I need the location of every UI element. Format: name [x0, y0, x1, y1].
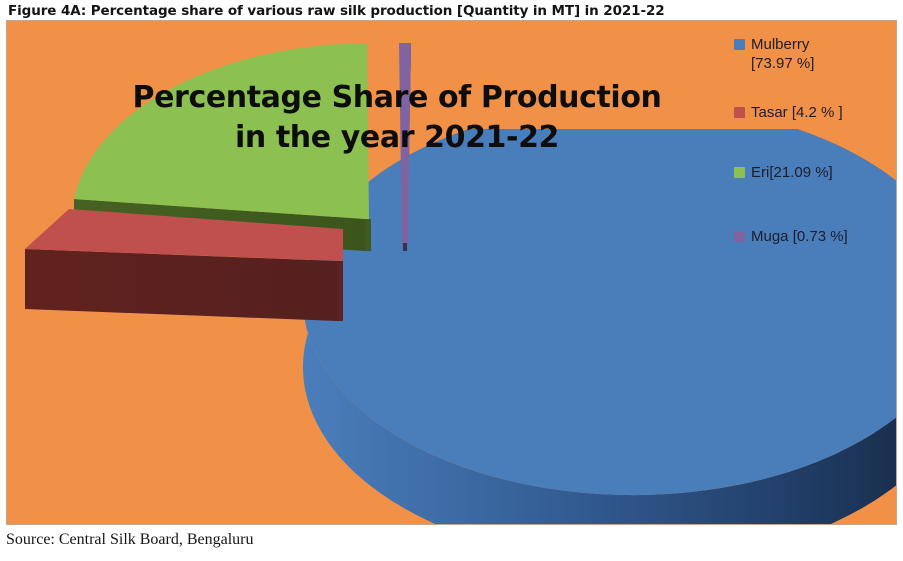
pie-chart-plot-area[interactable]: Percentage Share of Production in the ye…	[7, 21, 896, 524]
legend-swatch-muga-icon	[734, 231, 745, 242]
legend-label-muga: Muga [0.73 %]	[751, 227, 848, 246]
legend-swatch-mulberry-icon	[734, 39, 745, 50]
legend-label-mulberry: Mulberry [73.97 %]	[751, 35, 814, 73]
chart-frame: Percentage Share of Production in the ye…	[6, 20, 897, 525]
legend-swatch-eri-icon	[734, 167, 745, 178]
legend-label-tasar: Tasar [4.2 % ]	[751, 103, 843, 122]
legend-swatch-tasar-icon	[734, 107, 745, 118]
source-caption: Source: Central Silk Board, Bengaluru	[6, 531, 254, 549]
legend-item-mulberry[interactable]: Mulberry [73.97 %]	[734, 35, 814, 73]
legend-item-muga[interactable]: Muga [0.73 %]	[734, 227, 848, 246]
legend-item-eri[interactable]: Eri[21.09 %]	[734, 163, 833, 182]
pie-slice-tasar[interactable]	[25, 209, 343, 321]
legend-label-eri: Eri[21.09 %]	[751, 163, 833, 182]
legend-item-tasar[interactable]: Tasar [4.2 % ]	[734, 103, 843, 122]
pie-chart-graphic[interactable]	[7, 21, 897, 525]
pie-slice-mulberry[interactable]	[303, 129, 897, 525]
figure-caption: Figure 4A: Percentage share of various r…	[8, 2, 888, 20]
